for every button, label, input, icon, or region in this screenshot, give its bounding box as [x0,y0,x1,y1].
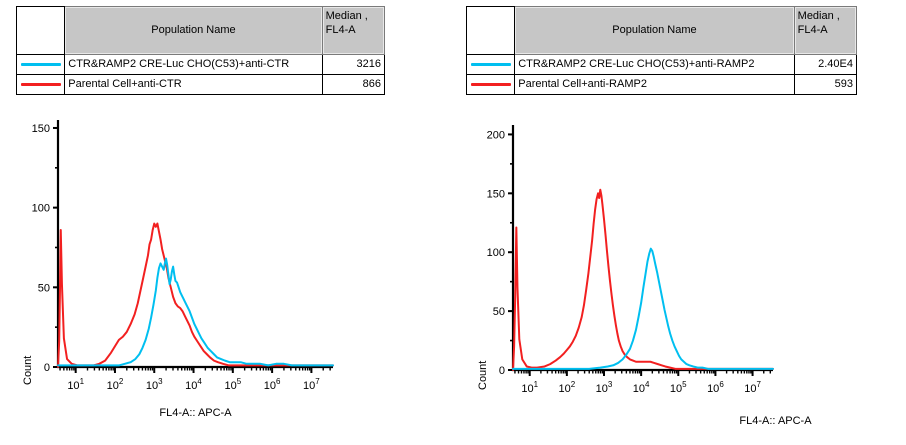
table-row: CTR&RAMP2 CRE-Luc CHO(C53)+anti-CTR 3216 [17,55,385,75]
legend-header-median-line2: FL4-A [798,24,856,38]
x-axis-label: FL4-A:: APC-A [638,415,906,427]
table-row: Parental Cell+anti-RAMP2 593 [467,75,857,95]
x-tick-label: 106 [264,377,281,392]
histogram-trace [58,259,333,366]
swatch-cyan [21,63,61,66]
y-tick-label: 0 [44,362,50,374]
histogram-plot-left: Count 050100150101102103104105106107 FL4… [0,110,453,410]
legend-median-value: 866 [322,75,384,95]
y-tick-label: 50 [493,306,505,318]
histogram-trace [513,190,773,370]
x-axis-label: FL4-A:: APC-A [58,407,333,419]
legend-header-row: Population Name Median , FL4-A [467,7,857,55]
panel-left: Population Name Median , FL4-A CTR&RAMP2… [0,0,453,445]
swatch-cyan [471,63,511,66]
legend-table-right: Population Name Median , FL4-A CTR&RAMP2… [466,6,857,95]
table-row: Parental Cell+anti-CTR 866 [17,75,385,95]
legend-header-population-name: Population Name [515,7,794,55]
legend-header-population-name: Population Name [65,7,322,55]
x-tick-label: 101 [521,380,538,395]
legend-color-swatch [467,55,515,75]
swatch-red [471,83,511,86]
legend-header-median: Median , FL4-A [322,7,384,55]
legend-color-swatch [17,55,65,75]
legend-median-value: 2.40E4 [794,55,856,75]
x-tick-label: 102 [107,377,124,392]
legend-table-left: Population Name Median , FL4-A CTR&RAMP2… [16,6,385,95]
swatch-red [21,83,61,86]
legend-population-name: Parental Cell+anti-CTR [65,75,322,95]
x-tick-label: 107 [744,380,761,395]
legend-population-name: CTR&RAMP2 CRE-Luc CHO(C53)+anti-RAMP2 [515,55,794,75]
legend-population-name: Parental Cell+anti-RAMP2 [515,75,794,95]
x-tick-label: 104 [633,380,650,395]
histogram-svg-left: 050100150101102103104105106107 [20,110,420,400]
y-tick-label: 200 [487,129,505,141]
legend-color-swatch [467,75,515,95]
legend-header-median: Median , FL4-A [794,7,856,55]
y-tick-label: 100 [487,247,505,259]
legend-header-median-line1: Median , [326,10,384,24]
x-tick-label: 103 [596,380,613,395]
x-tick-label: 105 [670,380,687,395]
y-tick-label: 0 [499,365,505,377]
histogram-trace [513,249,773,369]
legend-header-swatch [467,7,515,55]
x-tick-label: 106 [707,380,724,395]
x-tick-label: 102 [559,380,576,395]
legend-color-swatch [17,75,65,95]
legend-header-median-line2: FL4-A [326,24,384,38]
legend-header-swatch [17,7,65,55]
histogram-plot-right: Count 050100150200101102103104105106107 … [453,115,906,415]
histogram-trace [58,224,333,367]
legend-header-row: Population Name Median , FL4-A [17,7,385,55]
x-tick-label: 104 [185,377,202,392]
legend-median-value: 3216 [322,55,384,75]
legend-population-name: CTR&RAMP2 CRE-Luc CHO(C53)+anti-CTR [65,55,322,75]
legend-header-median-line1: Median , [798,10,856,24]
y-tick-label: 150 [32,123,50,135]
x-tick-label: 107 [303,377,320,392]
y-tick-label: 100 [32,203,50,215]
histogram-svg-right: 050100150200101102103104105106107 [475,115,875,405]
y-tick-label: 150 [487,188,505,200]
x-tick-label: 101 [67,377,84,392]
panel-right: Population Name Median , FL4-A CTR&RAMP2… [453,0,906,445]
y-tick-label: 50 [38,282,50,294]
x-tick-label: 105 [224,377,241,392]
x-tick-label: 103 [146,377,163,392]
legend-median-value: 593 [794,75,856,95]
table-row: CTR&RAMP2 CRE-Luc CHO(C53)+anti-RAMP2 2.… [467,55,857,75]
